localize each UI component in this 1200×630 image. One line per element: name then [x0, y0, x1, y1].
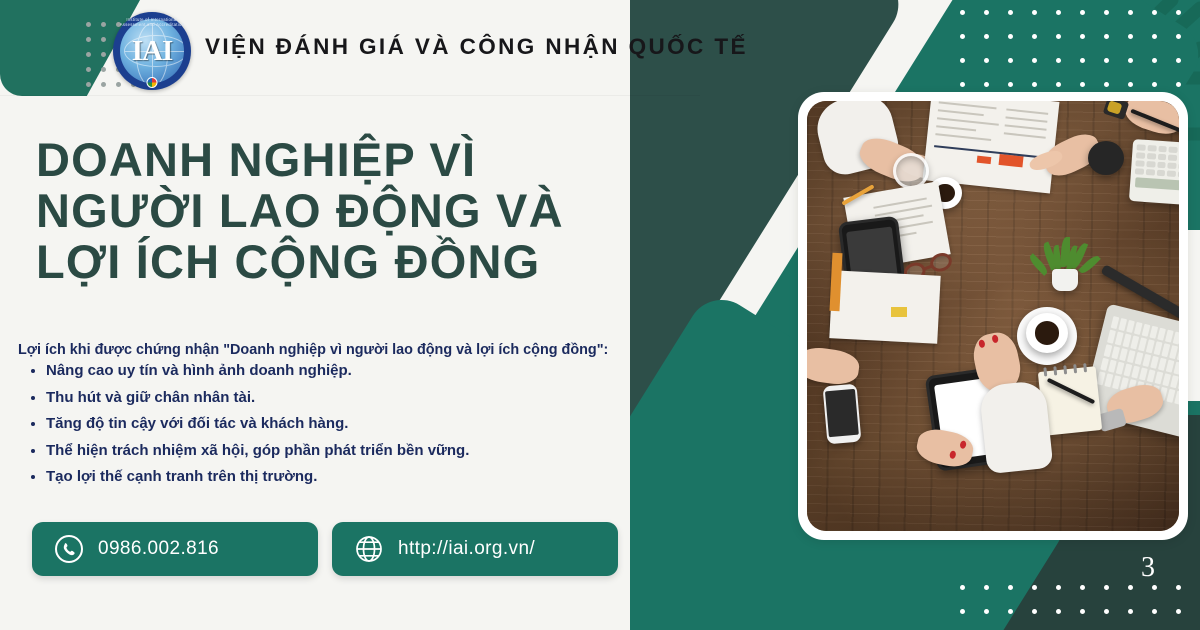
decorative-dot [984, 58, 989, 63]
decorative-dot [86, 37, 91, 42]
page-title-line-2: NGƯỜI LAO ĐỘNG VÀ [36, 186, 636, 237]
slide-canvas: 3 [0, 0, 1200, 630]
photo-dark-mug [1088, 141, 1124, 175]
decorative-dot [1032, 58, 1037, 63]
decorative-dot [1080, 34, 1085, 39]
decorative-dot [1032, 82, 1037, 87]
meeting-photo [807, 101, 1179, 531]
decorative-dot [1056, 34, 1061, 39]
photo-sticky-note [891, 307, 907, 317]
decorative-dot [1152, 34, 1157, 39]
decorative-dot [984, 585, 989, 590]
decorative-dot [1008, 34, 1013, 39]
logo-color-wheel-icon [147, 77, 158, 88]
decorative-dot [1080, 10, 1085, 15]
decorative-dot [1056, 10, 1061, 15]
decorative-dot [960, 10, 965, 15]
decorative-dot [1008, 585, 1013, 590]
benefit-item: Tăng độ tin cậy với đối tác và khách hàn… [18, 415, 628, 433]
decorative-dot [101, 37, 106, 42]
photo-sleeve-bottom [979, 380, 1054, 474]
decorative-dot [1032, 585, 1037, 590]
decorative-dot [86, 22, 91, 27]
decorative-dot [1104, 34, 1109, 39]
decorative-dot [1104, 609, 1109, 614]
globe-icon [354, 534, 384, 564]
decorative-dot [1032, 10, 1037, 15]
decorative-dot [960, 58, 965, 63]
iai-logo: Institute of International Assessment an… [113, 12, 191, 90]
decorative-dot [1008, 609, 1013, 614]
decorative-dot [1128, 609, 1133, 614]
decorative-dot [1080, 585, 1085, 590]
decorative-dot [1152, 585, 1157, 590]
page-title-line-3: LỢI ÍCH CỘNG ĐỒNG [36, 237, 636, 288]
decorative-dot [1056, 609, 1061, 614]
decorative-dot [1008, 82, 1013, 87]
decorative-dot [1008, 10, 1013, 15]
decorative-dot [1152, 609, 1157, 614]
decorative-dot [960, 609, 965, 614]
page-number: 3 [1141, 554, 1155, 582]
decorative-dot [1152, 10, 1157, 15]
photo-coffee-cup [1026, 313, 1068, 353]
decorative-dot [960, 34, 965, 39]
photo-smartphone [823, 384, 862, 445]
decorative-dot [1176, 10, 1181, 15]
decorative-dot [1152, 58, 1157, 63]
phone-icon [54, 534, 84, 564]
decorative-dot [1104, 58, 1109, 63]
decorative-dot [1032, 609, 1037, 614]
benefit-item: Nâng cao uy tín và hình ảnh doanh nghiệp… [18, 362, 628, 380]
decorative-dot [101, 82, 106, 87]
photo-frame [798, 92, 1188, 540]
header-divider [0, 95, 700, 96]
decorative-dot [1032, 34, 1037, 39]
decorative-dot [1128, 58, 1133, 63]
decorative-dot [1128, 82, 1133, 87]
decorative-dot [1128, 10, 1133, 15]
decorative-dot [1128, 34, 1133, 39]
decorative-dot [1080, 58, 1085, 63]
website-url: http://iai.org.vn/ [398, 538, 535, 560]
decorative-dot [1152, 82, 1157, 87]
decorative-dot [984, 34, 989, 39]
decorative-dot [1176, 82, 1181, 87]
decorative-dot [101, 67, 106, 72]
decorative-dot [1080, 82, 1085, 87]
decorative-dot [1176, 58, 1181, 63]
decorative-dot [86, 67, 91, 72]
benefit-item: Thể hiện trách nhiệm xã hội, góp phần ph… [18, 442, 628, 460]
decorative-dot [1176, 585, 1181, 590]
decorative-dot [960, 82, 965, 87]
page-title-line-1: DOANH NGHIỆP VÌ [36, 135, 636, 186]
page-title: DOANH NGHIỆP VÌ NGƯỜI LAO ĐỘNG VÀ LỢI ÍC… [36, 135, 636, 287]
decorative-dot [1104, 82, 1109, 87]
phone-number: 0986.002.816 [98, 538, 219, 560]
decorative-dot [1056, 585, 1061, 590]
benefit-item: Tạo lợi thế cạnh tranh trên thị trường. [18, 468, 628, 486]
benefit-item: Thu hút và giữ chân nhân tài. [18, 389, 628, 407]
photo-paper-stack [829, 270, 940, 344]
decorative-dot [1056, 58, 1061, 63]
decorative-dot [86, 82, 91, 87]
decorative-dot [86, 52, 91, 57]
decorative-dot [984, 609, 989, 614]
website-contact-pill[interactable]: http://iai.org.vn/ [332, 522, 618, 576]
decorative-dot [1008, 58, 1013, 63]
decorative-dot [101, 52, 106, 57]
phone-contact-pill[interactable]: 0986.002.816 [32, 522, 318, 576]
decorative-dot [1104, 10, 1109, 15]
benefits-intro: Lợi ích khi được chứng nhận "Doanh nghiệ… [18, 341, 628, 360]
decorative-dot [1080, 609, 1085, 614]
decorative-dot [101, 22, 106, 27]
decorative-dot [984, 82, 989, 87]
decorative-dot [1104, 585, 1109, 590]
photo-calculator [1129, 139, 1179, 205]
decorative-dot [984, 10, 989, 15]
decorative-dot [1056, 82, 1061, 87]
decorative-dot [1176, 609, 1181, 614]
decorative-dot [960, 585, 965, 590]
photo-potted-plant [1039, 237, 1089, 295]
decorative-dot [1128, 585, 1133, 590]
benefits-list: Nâng cao uy tín và hình ảnh doanh nghiệp… [18, 362, 628, 495]
decorative-dot [1176, 34, 1181, 39]
organization-name: VIỆN ĐÁNH GIÁ VÀ CÔNG NHẬN QUỐC TẾ [205, 34, 748, 60]
